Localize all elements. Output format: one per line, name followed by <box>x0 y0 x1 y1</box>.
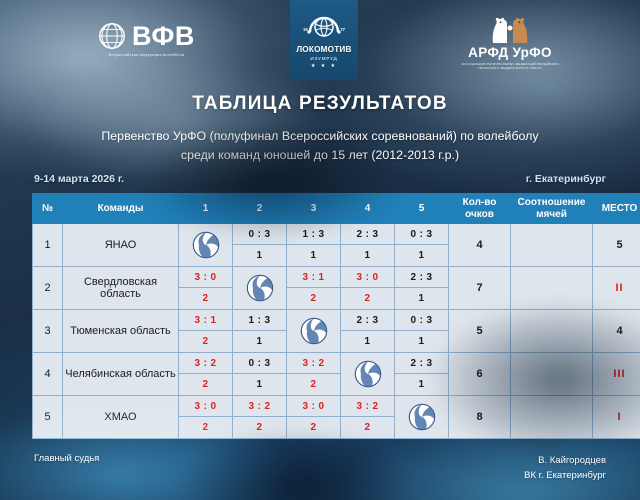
column-header-number: № <box>33 194 63 224</box>
match-result: 3 : 22 <box>287 353 340 395</box>
match-cell: 3 : 02 <box>179 396 233 439</box>
match-cell: 0 : 31 <box>395 310 449 353</box>
column-header-opp-5: 5 <box>395 194 449 224</box>
match-score: 3 : 1 <box>179 310 232 331</box>
match-result: 3 : 12 <box>287 267 340 309</box>
match-cell: 3 : 02 <box>179 267 233 310</box>
logo-bar: ВФВ Всероссийская федерация волейбола 19 <box>0 0 640 82</box>
team-name: Свердловская область <box>63 267 179 310</box>
match-result: 3 : 02 <box>179 267 232 309</box>
match-score: 2 : 3 <box>341 310 394 331</box>
vfv-logo-caption: Всероссийская федерация волейбола <box>109 53 185 57</box>
row-number: 4 <box>33 353 63 396</box>
vfv-logo-text: ВФВ <box>132 23 195 50</box>
match-result: 3 : 02 <box>179 396 232 438</box>
team-name: ХМАО <box>63 396 179 439</box>
match-points: 1 <box>233 331 286 352</box>
event-city: г. Екатеринбург <box>526 173 606 185</box>
match-points: 1 <box>395 245 448 266</box>
match-points: 2 <box>179 417 232 438</box>
team-name: Тюменская область <box>63 310 179 353</box>
match-result: 0 : 31 <box>233 353 286 395</box>
row-number: 2 <box>33 267 63 310</box>
match-points: 1 <box>341 331 394 352</box>
match-result: 1 : 31 <box>233 310 286 352</box>
match-points: 1 <box>233 245 286 266</box>
final-place: I <box>593 396 640 439</box>
chief-referee-label: Главный судья <box>34 453 99 464</box>
column-header-teams: Команды <box>63 194 179 224</box>
self-match-cell <box>233 267 287 310</box>
match-score: 0 : 3 <box>233 224 286 245</box>
chief-referee-signature: В. Кайгородцев ВК г. Екатеринбург <box>524 453 606 483</box>
match-result: 2 : 31 <box>341 224 394 266</box>
final-place: III <box>593 353 640 396</box>
match-cell: 3 : 22 <box>341 396 395 439</box>
match-result: 2 : 31 <box>341 310 394 352</box>
vfv-logo: ВФВ Всероссийская федерация волейбола <box>98 22 195 57</box>
match-points: 2 <box>341 288 394 309</box>
lokomotiv-logo-text: ЛОКОМОТИВ <box>296 45 351 54</box>
lokomotiv-izumrud-logo: 19 77 ЛОКОМОТИВ ИЗУМРУД ★ ★ ★ <box>290 0 358 80</box>
match-result: 3 : 22 <box>179 353 232 395</box>
bears-icon <box>487 14 533 44</box>
match-score: 3 : 0 <box>179 267 232 288</box>
column-header-opp-4: 4 <box>341 194 395 224</box>
match-cell: 2 : 31 <box>341 310 395 353</box>
match-points: 2 <box>233 417 286 438</box>
ball-ratio <box>511 310 593 353</box>
match-cell: 3 : 02 <box>287 396 341 439</box>
table-row: 3Тюменская область3 : 121 : 312 : 310 : … <box>33 310 640 353</box>
match-score: 2 : 3 <box>395 267 448 288</box>
volleyball-icon <box>408 403 436 431</box>
match-result: 3 : 22 <box>341 396 394 438</box>
final-place: II <box>593 267 640 310</box>
table-row: 4Челябинская область3 : 220 : 313 : 222 … <box>33 353 640 396</box>
page-title: ТАБЛИЦА РЕЗУЛЬТАТОВ <box>0 93 640 115</box>
column-header-opp-1: 1 <box>179 194 233 224</box>
volleyball-icon <box>354 360 382 388</box>
column-header-place: МЕСТО <box>593 194 640 224</box>
subtitle-line-2: среди команд юношей до 15 лет (2012-2013… <box>0 146 640 165</box>
table-header-row: № Команды 1 2 3 4 5 Кол-во очков Соотнош… <box>33 194 640 224</box>
arfd-logo-text: АРФД УрФО <box>468 45 552 60</box>
match-cell: 3 : 22 <box>287 353 341 396</box>
match-score: 1 : 3 <box>287 224 340 245</box>
match-score: 2 : 3 <box>341 224 394 245</box>
match-result: 1 : 31 <box>287 224 340 266</box>
row-number: 1 <box>33 224 63 267</box>
match-cell: 2 : 31 <box>341 224 395 267</box>
match-score: 3 : 0 <box>287 396 340 417</box>
total-points: 7 <box>449 267 511 310</box>
match-score: 3 : 2 <box>179 353 232 374</box>
event-dates: 9-14 марта 2026 г. <box>34 173 124 185</box>
match-points: 1 <box>341 245 394 266</box>
match-score: 3 : 1 <box>287 267 340 288</box>
arfd-logo-caption: АССОЦИАЦИЯ РЕГИОНАЛЬНЫХ ФЕДЕРАЦИЙ ВОЛЕЙБ… <box>458 62 562 70</box>
points-header-line-2: очков <box>450 209 509 221</box>
self-match-cell <box>341 353 395 396</box>
match-cell: 3 : 12 <box>287 267 341 310</box>
match-score: 0 : 3 <box>233 353 286 374</box>
izumrud-logo-text: ИЗУМРУД <box>310 56 337 61</box>
match-points: 1 <box>395 331 448 352</box>
match-points: 2 <box>179 288 232 309</box>
match-result: 2 : 31 <box>395 267 448 309</box>
globe-icon <box>98 22 126 50</box>
match-points: 2 <box>287 417 340 438</box>
match-cell: 3 : 22 <box>179 353 233 396</box>
match-cell: 0 : 31 <box>395 224 449 267</box>
row-number: 3 <box>33 310 63 353</box>
match-result: 0 : 31 <box>233 224 286 266</box>
match-result: 3 : 02 <box>341 267 394 309</box>
stars-icon: ★ ★ ★ <box>311 63 337 69</box>
match-score: 0 : 3 <box>395 310 448 331</box>
results-poster: ВФВ Всероссийская федерация волейбола 19 <box>0 0 640 500</box>
match-score: 3 : 2 <box>341 396 394 417</box>
match-score: 0 : 3 <box>395 224 448 245</box>
final-place: 4 <box>593 310 640 353</box>
volleyball-icon <box>300 317 328 345</box>
subtitle-line-1: Первенство УрФО (полуфинал Всероссийских… <box>0 127 640 146</box>
total-points: 4 <box>449 224 511 267</box>
match-points: 1 <box>287 245 340 266</box>
column-header-opp-2: 2 <box>233 194 287 224</box>
match-points: 2 <box>287 288 340 309</box>
match-result: 3 : 12 <box>179 310 232 352</box>
match-score: 2 : 3 <box>395 353 448 374</box>
column-header-ratio: Соотношение мячей <box>511 194 593 224</box>
crest-year-left: 19 <box>303 27 308 32</box>
results-table-container: № Команды 1 2 3 4 5 Кол-во очков Соотнош… <box>0 185 640 439</box>
match-points: 2 <box>179 374 232 395</box>
arfd-urfo-logo: АРФД УрФО АССОЦИАЦИЯ РЕГИОНАЛЬНЫХ ФЕДЕРА… <box>458 14 562 70</box>
match-result: 0 : 31 <box>395 224 448 266</box>
official-name: В. Кайгородцев <box>524 453 606 468</box>
match-score: 3 : 2 <box>287 353 340 374</box>
volleyball-icon <box>246 274 274 302</box>
match-points: 2 <box>179 331 232 352</box>
total-points: 5 <box>449 310 511 353</box>
match-result: 3 : 22 <box>233 396 286 438</box>
self-match-cell <box>287 310 341 353</box>
self-match-cell <box>395 396 449 439</box>
match-cell: 1 : 31 <box>287 224 341 267</box>
official-club: ВК г. Екатеринбург <box>524 468 606 483</box>
ratio-header-line-1: Соотношение <box>512 197 591 209</box>
crest-year-right: 77 <box>340 27 345 32</box>
match-score: 3 : 0 <box>179 396 232 417</box>
match-result: 0 : 31 <box>395 310 448 352</box>
match-score: 3 : 2 <box>233 396 286 417</box>
team-name: Челябинская область <box>63 353 179 396</box>
match-score: 1 : 3 <box>233 310 286 331</box>
team-name: ЯНАО <box>63 224 179 267</box>
match-cell: 0 : 31 <box>233 224 287 267</box>
match-result: 3 : 02 <box>287 396 340 438</box>
total-points: 6 <box>449 353 511 396</box>
total-points: 8 <box>449 396 511 439</box>
table-row: 1ЯНАО0 : 311 : 312 : 310 : 3145 <box>33 224 640 267</box>
match-cell: 1 : 31 <box>233 310 287 353</box>
ball-ratio <box>511 396 593 439</box>
column-header-points: Кол-во очков <box>449 194 511 224</box>
table-row: 2Свердловская область3 : 023 : 123 : 022… <box>33 267 640 310</box>
final-place: 5 <box>593 224 640 267</box>
page-footer: Главный судья В. Кайгородцев ВК г. Екате… <box>0 439 640 483</box>
match-cell: 3 : 02 <box>341 267 395 310</box>
match-score: 3 : 0 <box>341 267 394 288</box>
match-cell: 3 : 12 <box>179 310 233 353</box>
points-header-line-1: Кол-во <box>450 197 509 209</box>
self-match-cell <box>179 224 233 267</box>
match-points: 2 <box>341 417 394 438</box>
table-row: 5ХМАО3 : 023 : 223 : 023 : 228I <box>33 396 640 439</box>
match-cell: 0 : 31 <box>233 353 287 396</box>
table-header: № Команды 1 2 3 4 5 Кол-во очков Соотнош… <box>33 194 640 224</box>
match-points: 1 <box>233 374 286 395</box>
ratio-header-line-2: мячей <box>512 209 591 221</box>
ball-ratio <box>511 353 593 396</box>
column-header-opp-3: 3 <box>287 194 341 224</box>
match-cell: 2 : 31 <box>395 353 449 396</box>
event-meta: 9-14 марта 2026 г. г. Екатеринбург <box>0 164 640 185</box>
ball-ratio <box>511 267 593 310</box>
match-points: 1 <box>395 288 448 309</box>
row-number: 5 <box>33 396 63 439</box>
table-body: 1ЯНАО0 : 311 : 312 : 310 : 31452Свердлов… <box>33 224 640 439</box>
match-result: 2 : 31 <box>395 353 448 395</box>
match-points: 2 <box>287 374 340 395</box>
match-points: 1 <box>395 374 448 395</box>
volleyball-icon <box>192 231 220 259</box>
match-cell: 2 : 31 <box>395 267 449 310</box>
results-table: № Команды 1 2 3 4 5 Кол-во очков Соотнош… <box>32 193 640 439</box>
ball-ratio <box>511 224 593 267</box>
page-subtitle: Первенство УрФО (полуфинал Всероссийских… <box>0 127 640 164</box>
match-cell: 3 : 22 <box>233 396 287 439</box>
